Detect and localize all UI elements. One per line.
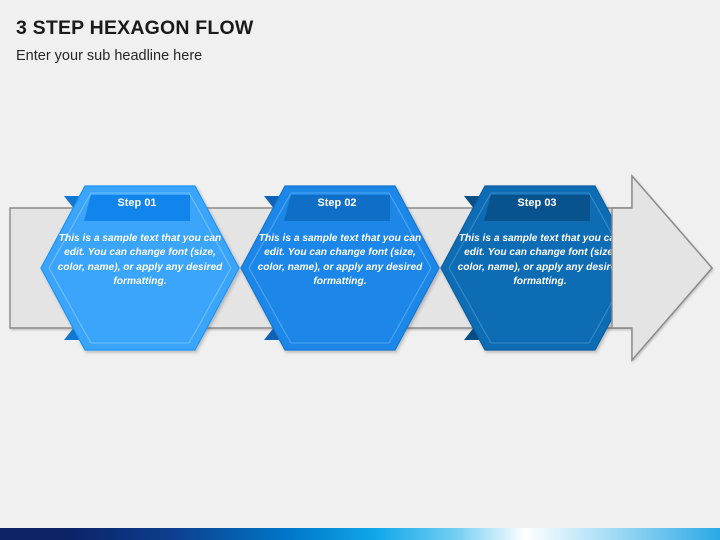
step-1-body-text: This is a sample text that you can edit.… [52, 232, 228, 290]
arrow-head-outline [612, 176, 712, 360]
step-3-badge: Step 03 [484, 195, 590, 221]
slide-canvas: 3 STEP HEXAGON FLOW Enter your sub headl… [0, 0, 720, 540]
hexagon-flow-diagram: Step 01 This is a sample text that you c… [0, 0, 720, 540]
step-1-badge: Step 01 [84, 195, 190, 221]
step-2-body-text: This is a sample text that you can edit.… [252, 232, 428, 290]
step-1-badge-label: Step 01 [84, 198, 190, 209]
bottom-gradient-bar [0, 528, 720, 540]
step-3-body-text: This is a sample text that you can edit.… [452, 232, 628, 290]
step-2-badge: Step 02 [284, 195, 390, 221]
step-3-badge-label: Step 03 [484, 198, 590, 209]
step-2-badge-label: Step 02 [284, 198, 390, 209]
